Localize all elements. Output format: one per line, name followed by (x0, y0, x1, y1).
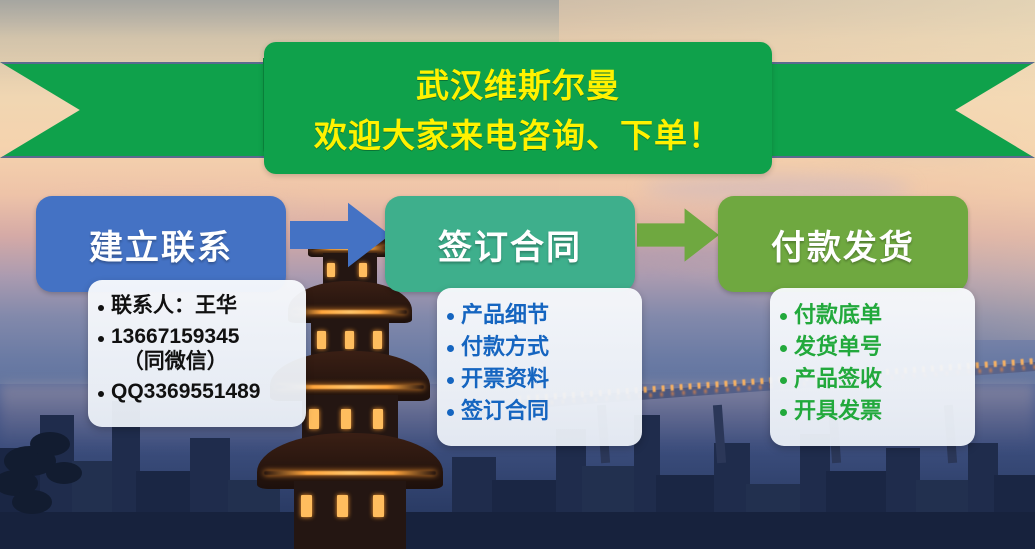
step-title: 签订合同 (438, 220, 582, 269)
list-item: 产品签收 (780, 366, 965, 392)
step-title: 建立联系 (89, 220, 233, 269)
list-item: 发货单号 (780, 334, 965, 360)
list-item: 签订合同 (447, 398, 632, 424)
list-item-label: 付款方式 (461, 334, 549, 360)
list-item-label: 联系人：王华 (111, 294, 237, 319)
bullet-dot (98, 391, 104, 397)
bullet-dot (447, 345, 454, 352)
list-item-label: 13667159345 （同微信） (111, 325, 239, 375)
list-item: 产品细节 (447, 302, 632, 328)
step-card-header: 付款发货 (718, 196, 968, 292)
bullet-dot (780, 313, 787, 320)
step-item-list: 产品细节 付款方式 开票资料 签订合同 (447, 302, 632, 424)
list-item: 联系人：王华 (98, 294, 296, 319)
list-item-label: 开票资料 (461, 366, 549, 392)
header-ribbon: 武汉维斯尔曼 欢迎大家来电咨询、下单！ (0, 42, 1035, 174)
step-card-header: 建立联系 (36, 196, 286, 292)
bullet-dot (447, 313, 454, 320)
bullet-dot (98, 336, 104, 342)
list-item: 开票资料 (447, 366, 632, 392)
poster-canvas: 武汉维斯尔曼 欢迎大家来电咨询、下单！ 建立联系 联系人：王华 13667159… (0, 0, 1035, 549)
list-item-label: QQ3369551489 (111, 380, 260, 405)
list-item-label: 付款底单 (794, 302, 882, 328)
list-item: 开具发票 (780, 398, 965, 424)
list-item-label: 产品细节 (461, 302, 549, 328)
list-item-label: 开具发票 (794, 398, 882, 424)
bullet-dot (780, 409, 787, 416)
list-item: 13667159345 （同微信） (98, 325, 296, 375)
company-name: 武汉维斯尔曼 (416, 59, 620, 107)
list-item: 付款方式 (447, 334, 632, 360)
step-card-header: 签订合同 (385, 196, 635, 292)
list-item-label: 签订合同 (461, 398, 549, 424)
banner-tagline: 欢迎大家来电咨询、下单！ (314, 109, 722, 157)
bullet-dot (447, 377, 454, 384)
bullet-dot (98, 305, 104, 311)
step-title: 付款发货 (771, 220, 915, 269)
step-detail-panel: 联系人：王华 13667159345 （同微信） QQ3369551489 (88, 280, 306, 427)
list-item-label: 发货单号 (794, 334, 882, 360)
step-item-list: 联系人：王华 13667159345 （同微信） QQ3369551489 (98, 294, 296, 405)
bullet-dot (447, 409, 454, 416)
step-detail-panel: 产品细节 付款方式 开票资料 签订合同 (437, 288, 642, 446)
step-item-list: 付款底单 发货单号 产品签收 开具发票 (780, 302, 965, 424)
list-item: QQ3369551489 (98, 380, 296, 405)
foreground-tree (0, 428, 114, 538)
banner-panel: 武汉维斯尔曼 欢迎大家来电咨询、下单！ (264, 42, 772, 174)
bullet-dot (780, 377, 787, 384)
step-detail-panel: 付款底单 发货单号 产品签收 开具发票 (770, 288, 975, 446)
list-item-label: 产品签收 (794, 366, 882, 392)
bullet-dot (780, 345, 787, 352)
list-item: 付款底单 (780, 302, 965, 328)
